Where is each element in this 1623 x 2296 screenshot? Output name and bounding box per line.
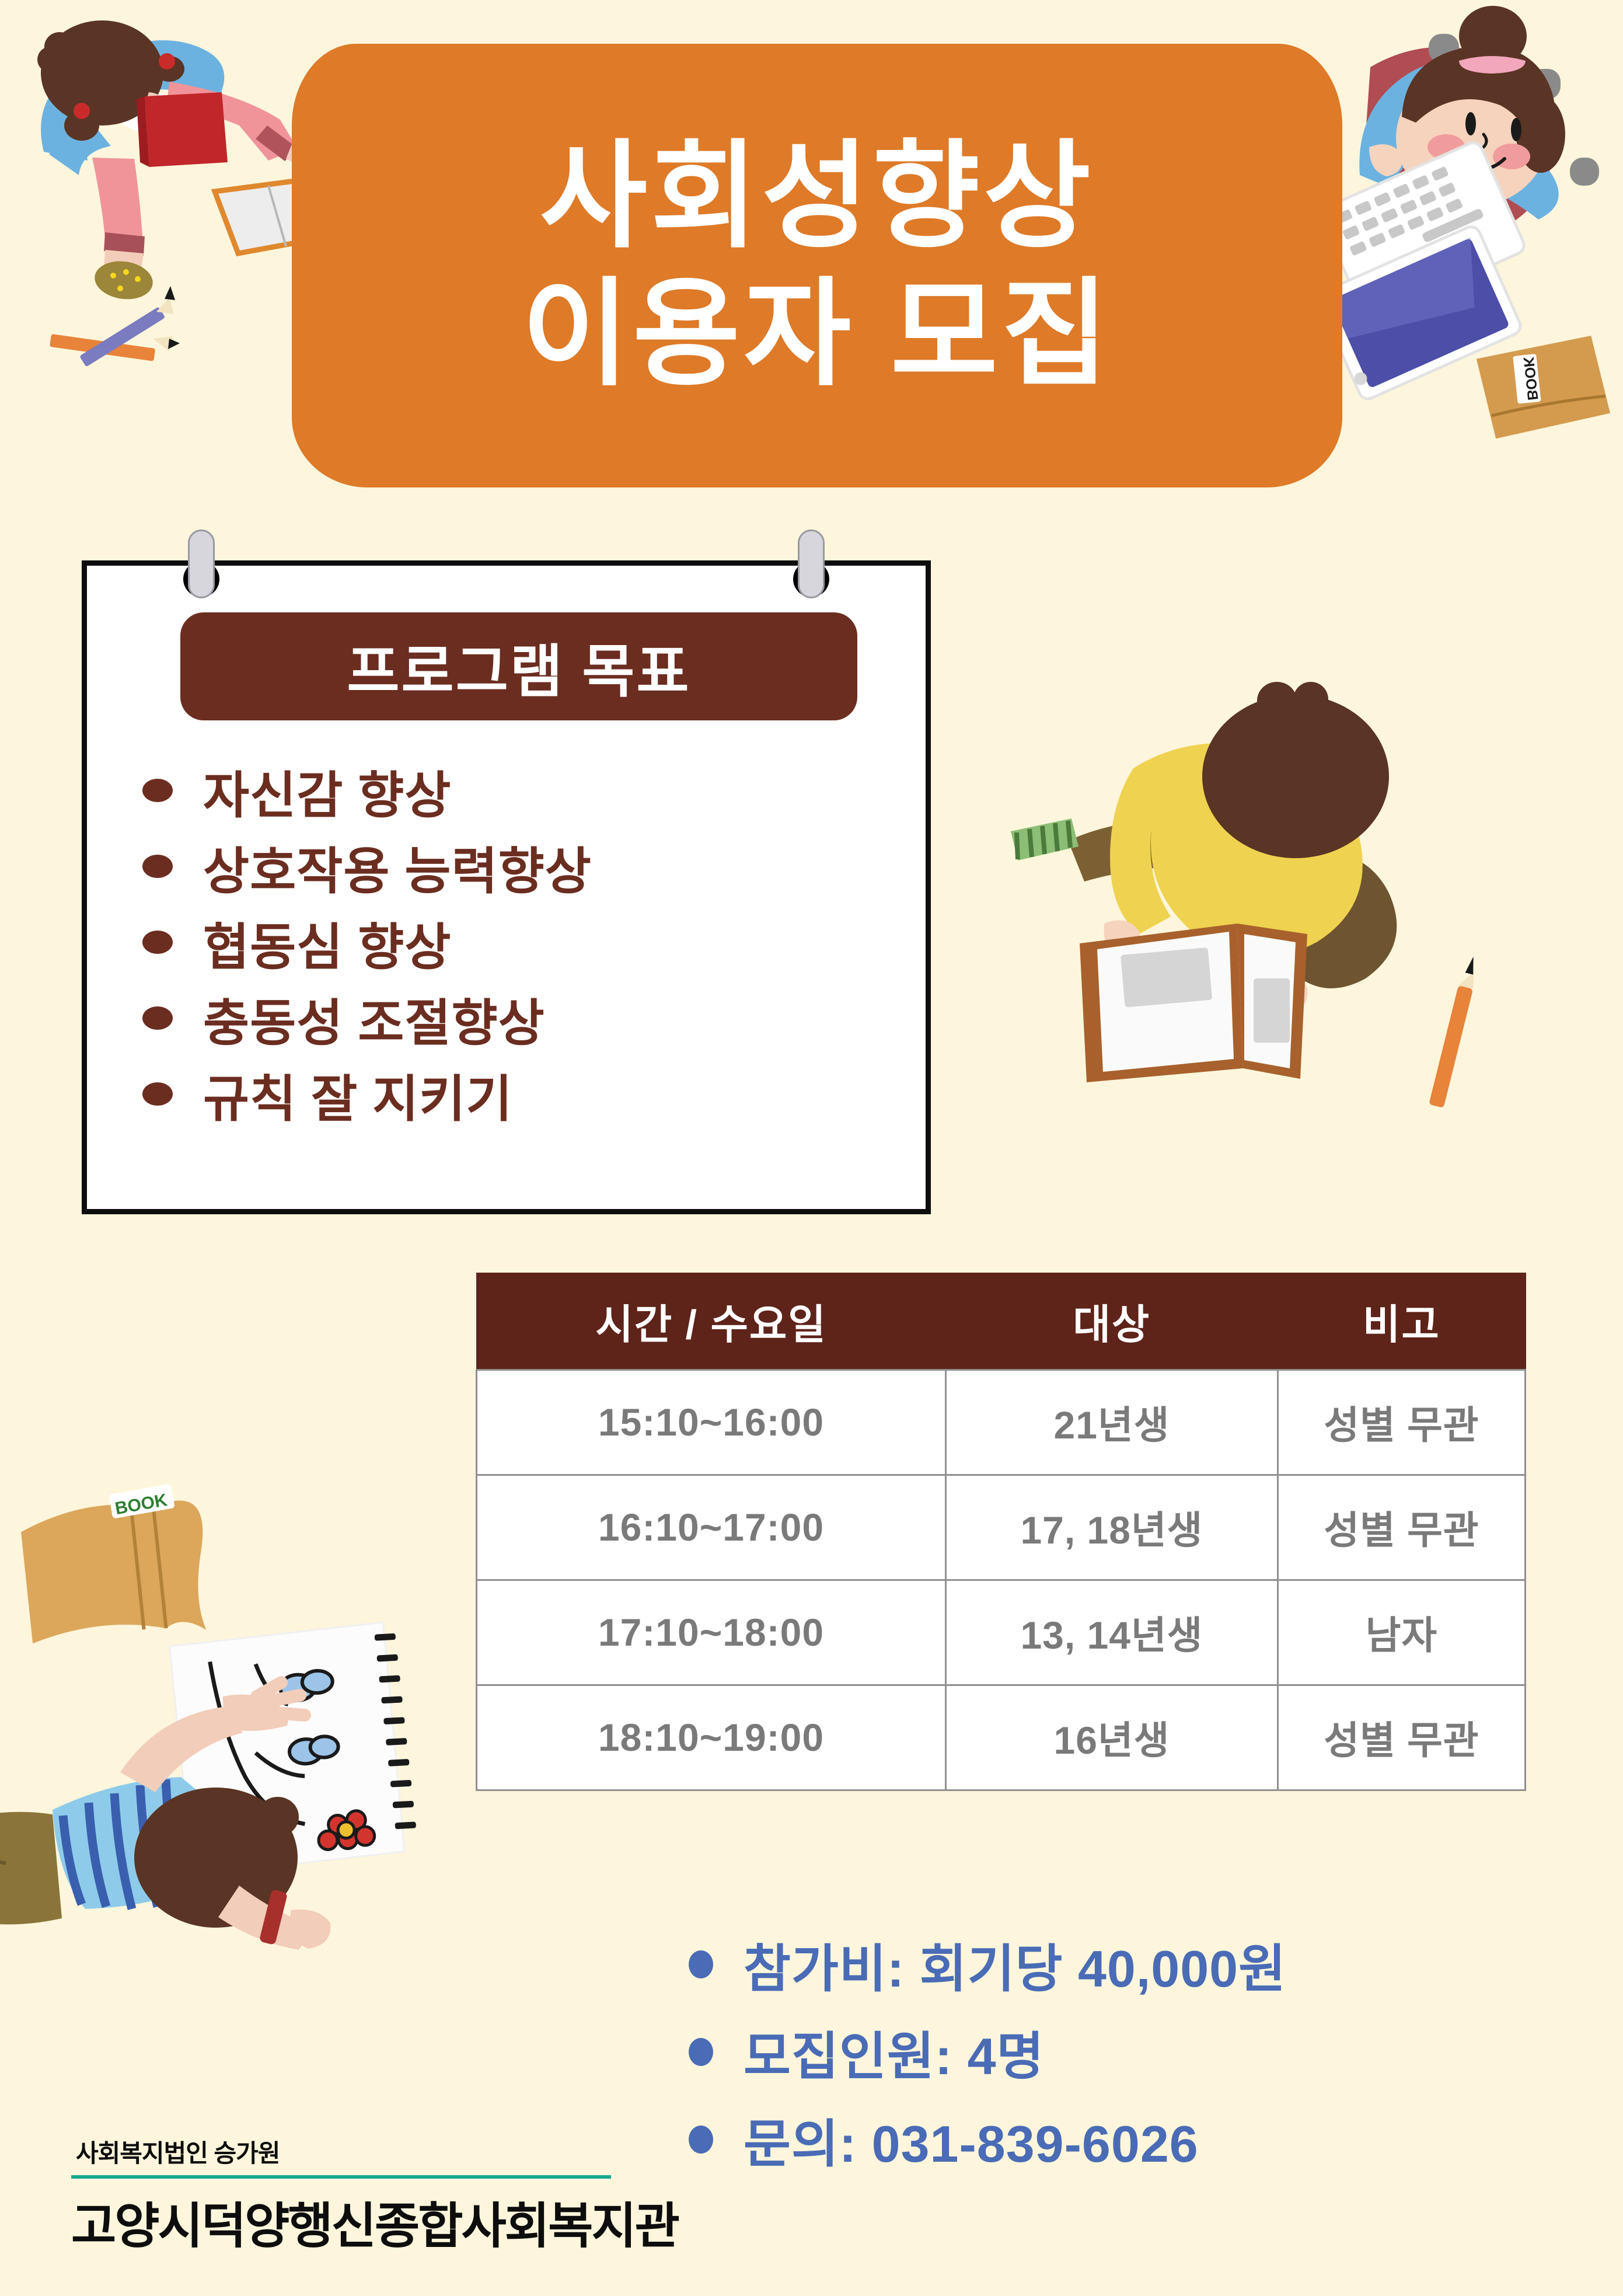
program-goals-box: 프로그램 목표 자신감 향상 상호작용 능력향상 협동심 향상 충동성 조절향상… <box>82 560 931 1214</box>
cell-target: 13, 14년생 <box>945 1580 1278 1685</box>
paper-clip-right <box>798 529 825 598</box>
illustration-child-drawing-sketchpad: BOOK <box>0 1424 449 2096</box>
cell-note: 남자 <box>1278 1580 1525 1685</box>
cell-time: 18:10~19:00 <box>477 1685 946 1790</box>
table-row: 15:10~16:00 21년생 성별 무관 <box>477 1370 1526 1475</box>
footer-divider <box>71 2175 611 2179</box>
goal-item-label: 협동심 향상 <box>203 906 452 979</box>
goal-item: 충동성 조절향상 <box>142 980 901 1056</box>
cell-target: 16년생 <box>945 1685 1278 1790</box>
goal-item-label: 충동성 조절향상 <box>203 982 545 1055</box>
bullet-dot-icon <box>142 855 173 878</box>
cell-note: 성별 무관 <box>1278 1685 1525 1790</box>
goal-item-label: 규칙 잘 지키기 <box>203 1058 513 1131</box>
bullet-dot-icon <box>689 1950 713 1978</box>
bullet-dot-icon <box>142 1082 173 1106</box>
table-column-header-target: 대상 <box>945 1273 1278 1370</box>
cell-time: 15:10~16:00 <box>477 1370 946 1475</box>
info-item-contact: 문의: 031-839-6026 <box>689 2096 1564 2183</box>
bullet-dot-icon <box>689 2038 713 2066</box>
cell-note: 성별 무관 <box>1278 1475 1525 1580</box>
info-item-label: 참가비: 회기당 40,000원 <box>744 1928 1286 2002</box>
info-item-fee: 참가비: 회기당 40,000원 <box>689 1921 1564 2008</box>
cell-target: 21년생 <box>945 1370 1278 1475</box>
goal-item: 규칙 잘 지키기 <box>142 1056 901 1132</box>
table-row: 17:10~18:00 13, 14년생 남자 <box>477 1580 1526 1685</box>
goal-item: 자신감 향상 <box>142 752 901 828</box>
cell-target: 17, 18년생 <box>945 1475 1278 1580</box>
info-item-capacity: 모집인원: 4명 <box>689 2008 1564 2096</box>
poster-title-line1: 사회성향상 <box>540 128 1094 266</box>
table-row: 16:10~17:00 17, 18년생 성별 무관 <box>477 1475 1526 1580</box>
footer-center-name: 고양시덕양행신종합사회복지관 <box>71 2187 678 2257</box>
illustration-boy-reading-open-book <box>980 660 1541 1185</box>
program-goals-list: 자신감 향상 상호작용 능력향상 협동심 향상 충동성 조절향상 규칙 잘 지키… <box>142 752 901 1132</box>
bullet-dot-icon <box>142 931 173 954</box>
table-column-header-time: 시간 / 수요일 <box>477 1273 946 1370</box>
header-banner: 사회성향상 이용자 모집 <box>292 44 1342 487</box>
table-header-row: 시간 / 수요일 대상 비고 <box>477 1273 1526 1370</box>
info-item-label: 문의: 031-839-6026 <box>744 2103 1199 2177</box>
bullet-dot-icon <box>142 1006 173 1030</box>
poster-title-line2: 이용자 모집 <box>522 266 1112 403</box>
goal-item-label: 자신감 향상 <box>203 754 452 827</box>
cell-note: 성별 무관 <box>1278 1370 1525 1475</box>
goal-item: 상호작용 능력향상 <box>142 828 901 904</box>
footer-logo: 사회복지법인 승가원 고양시덕양행신종합사회복지관 <box>71 2134 678 2257</box>
program-goals-title: 프로그램 목표 <box>180 612 857 720</box>
cell-time: 16:10~17:00 <box>477 1475 946 1580</box>
paper-clip-left <box>188 529 215 598</box>
cell-time: 17:10~18:00 <box>477 1580 946 1685</box>
bullet-dot-icon <box>142 779 173 802</box>
info-item-label: 모집인원: 4명 <box>744 2015 1045 2089</box>
goal-item: 협동심 향상 <box>142 904 901 980</box>
schedule-table: 시간 / 수요일 대상 비고 15:10~16:00 21년생 성별 무관 16… <box>476 1273 1526 1791</box>
goal-item-label: 상호작용 능력향상 <box>203 830 592 903</box>
program-info-list: 참가비: 회기당 40,000원 모집인원: 4명 문의: 031-839-60… <box>689 1921 1564 2183</box>
bullet-dot-icon <box>689 2126 713 2154</box>
table-row: 18:10~19:00 16년생 성별 무관 <box>477 1685 1526 1790</box>
table-column-header-note: 비고 <box>1278 1273 1525 1370</box>
footer-organization-name: 사회복지법인 승가원 <box>76 2134 678 2169</box>
